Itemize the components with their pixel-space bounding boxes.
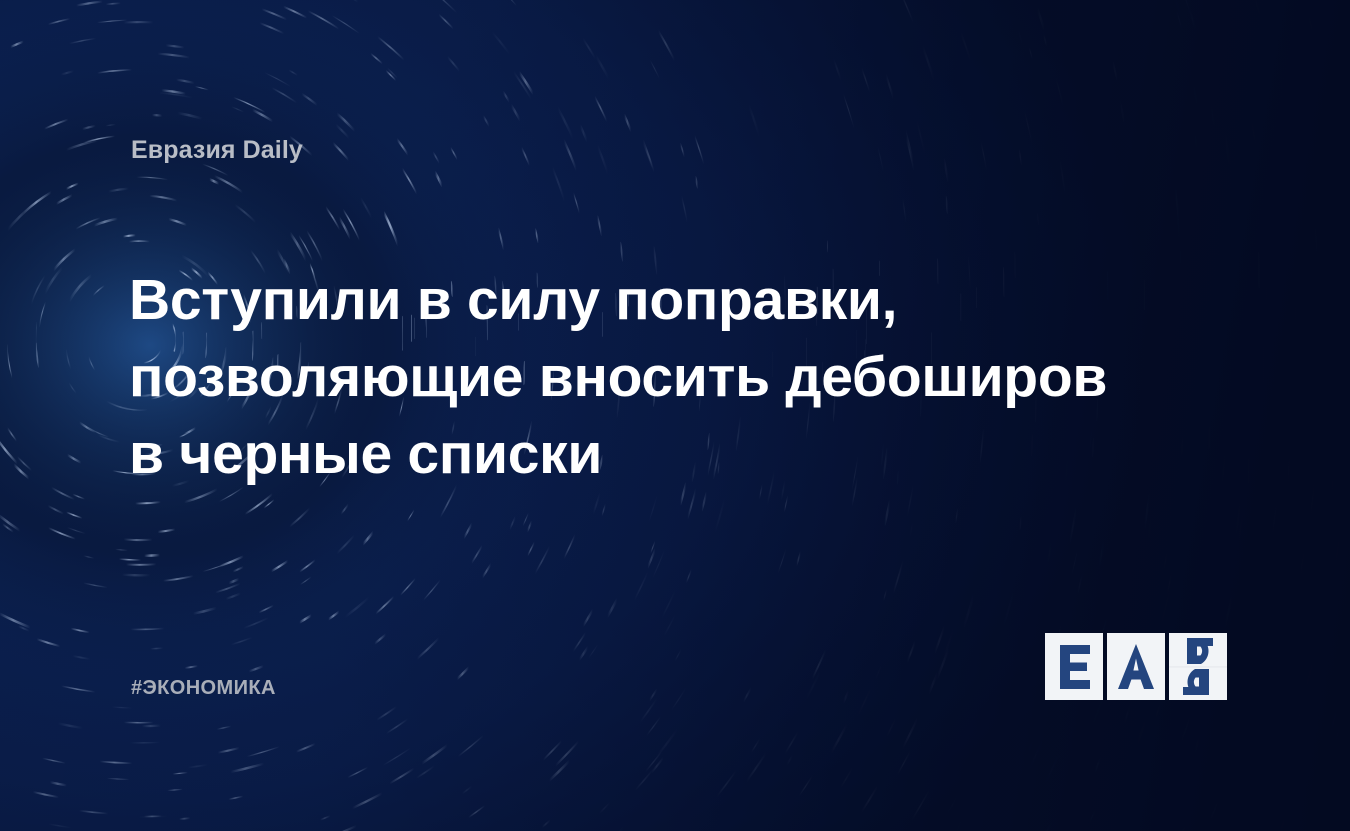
logo-tile-d — [1169, 633, 1227, 700]
headline-line-2: позволяющие вносить дебоширов — [129, 339, 1129, 416]
logo-tile-a — [1107, 633, 1165, 700]
brand-title: Евразия Daily — [131, 136, 303, 165]
news-card: Евразия Daily Вступили в силу поправки, … — [0, 0, 1350, 831]
headline: Вступили в силу поправки, позволяющие вн… — [129, 262, 1129, 493]
ead-logo[interactable] — [1045, 633, 1227, 700]
category-tag[interactable]: #ЭКОНОМИКА — [131, 677, 276, 700]
logo-tile-e — [1045, 633, 1103, 700]
headline-line-3: в черные списки — [129, 416, 1129, 493]
headline-line-1: Вступили в силу поправки, — [129, 262, 1129, 339]
